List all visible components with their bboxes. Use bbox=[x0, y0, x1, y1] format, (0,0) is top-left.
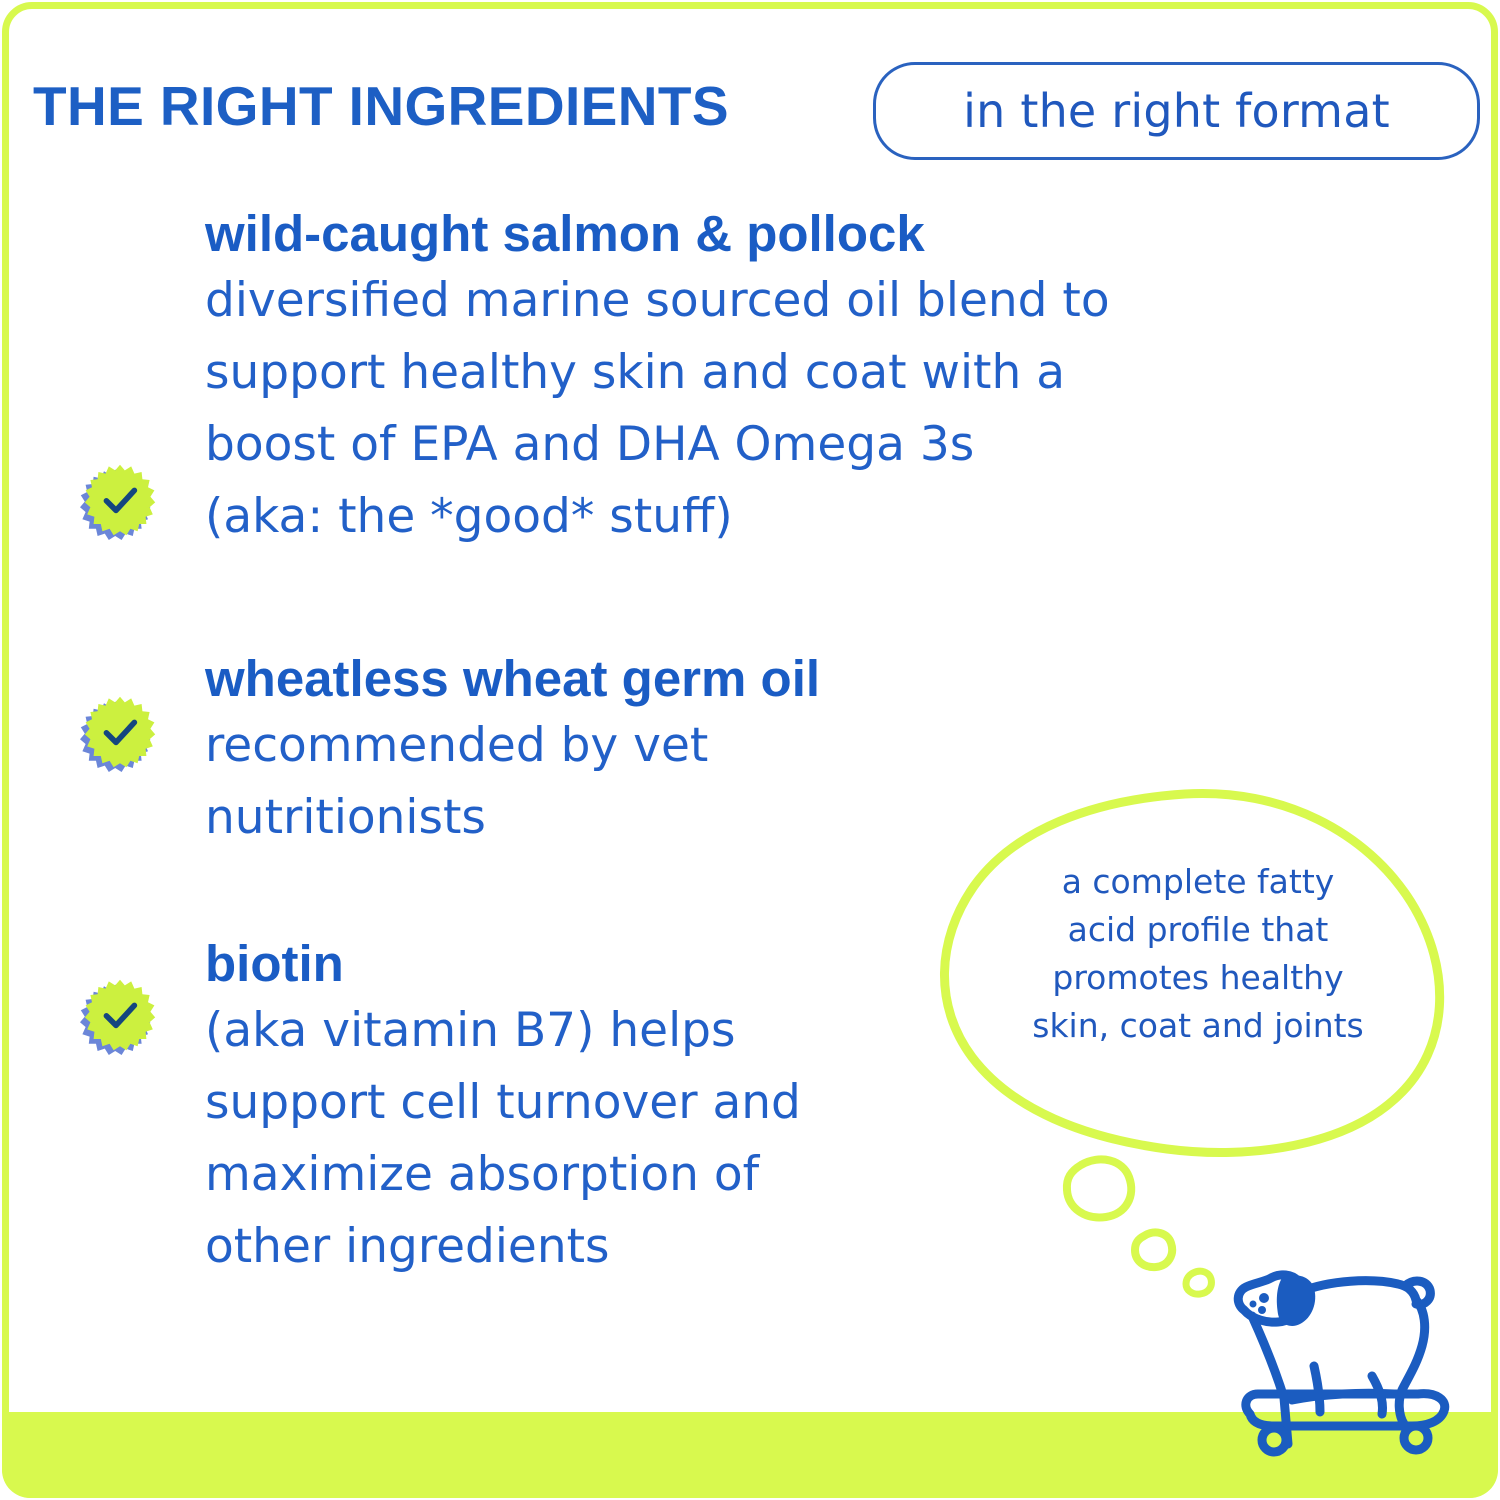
format-badge: in the right format bbox=[873, 62, 1480, 160]
check-badge-icon bbox=[80, 460, 160, 540]
ingredient-text-block: wheatless wheat germ oil recommended by … bbox=[205, 650, 1205, 854]
header: THE RIGHT INGREDIENTS in the right forma… bbox=[0, 60, 1500, 170]
ingredient-body: diversified marine sourced oil blend to … bbox=[205, 265, 1435, 553]
check-badge-icon bbox=[80, 975, 160, 1055]
ingredient-title: wild-caught salmon & pollock bbox=[205, 205, 1435, 263]
ingredient-title: biotin bbox=[205, 935, 1205, 993]
page-title: THE RIGHT INGREDIENTS bbox=[33, 76, 729, 136]
ingredient-body: (aka vitamin B7) helps support cell turn… bbox=[205, 995, 1205, 1283]
check-badge-icon bbox=[80, 692, 160, 772]
ingredient-title: wheatless wheat germ oil bbox=[205, 650, 1205, 708]
format-badge-label: in the right format bbox=[963, 84, 1390, 138]
dog-on-skateboard-icon bbox=[1222, 1248, 1482, 1458]
ingredients-info-card: THE RIGHT INGREDIENTS in the right forma… bbox=[0, 0, 1500, 1500]
ingredient-body: recommended by vet nutritionists bbox=[205, 710, 1205, 854]
ingredient-text-block: wild-caught salmon & pollock diversified… bbox=[205, 205, 1435, 553]
ingredient-text-block: biotin (aka vitamin B7) helps support ce… bbox=[205, 935, 1205, 1283]
